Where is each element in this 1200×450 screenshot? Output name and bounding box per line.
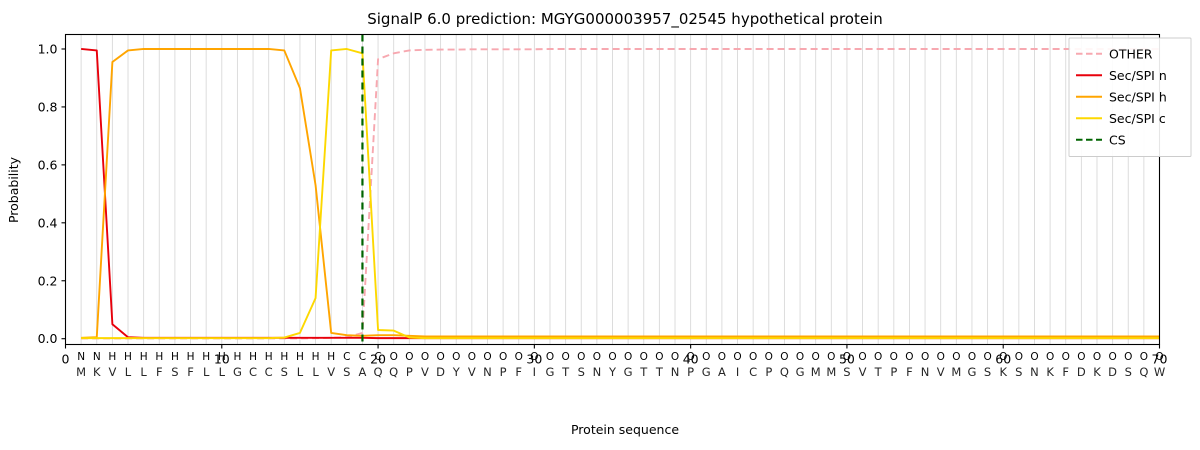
residue-state-marker: O <box>468 351 476 363</box>
residue-state-marker: H <box>327 351 335 363</box>
residue-state-marker: H <box>249 351 257 363</box>
residue-state-marker: H <box>233 351 241 363</box>
residue-state-marker: H <box>312 351 320 363</box>
residue-letter: V <box>327 365 335 379</box>
residue-state-marker: O <box>702 351 710 363</box>
residue-state-marker: O <box>780 351 788 363</box>
residue-letter: N <box>593 365 602 379</box>
residue-letter: G <box>702 365 711 379</box>
residue-state-marker: N <box>93 351 101 363</box>
residue-state-marker: O <box>624 351 632 363</box>
residue-letter: P <box>687 365 694 379</box>
residue-letter: Y <box>452 365 461 379</box>
residue-state-marker: H <box>108 351 116 363</box>
x-axis-label: Protein sequence <box>571 422 679 437</box>
residue-state-marker: O <box>390 351 398 363</box>
residue-letter: G <box>233 365 242 379</box>
residue-letter: P <box>765 365 772 379</box>
residue-state-marker: H <box>202 351 210 363</box>
residue-letter: N <box>483 365 492 379</box>
residue-state-marker: O <box>937 351 945 363</box>
residue-state-marker: H <box>280 351 288 363</box>
residue-letter: M <box>76 365 86 379</box>
residue-state-marker: O <box>921 351 929 363</box>
y-tick-label: 0.2 <box>38 273 58 288</box>
residue-state-marker: O <box>1046 351 1054 363</box>
legend-label-sec-spi-c[interactable]: Sec/SPI c <box>1109 111 1166 126</box>
residue-letter: G <box>796 365 805 379</box>
residue-state-marker: H <box>187 351 195 363</box>
residue-state-marker: O <box>546 351 554 363</box>
residue-letter: M <box>951 365 961 379</box>
residue-state-marker: O <box>593 351 601 363</box>
residue-state-marker: O <box>718 351 726 363</box>
residue-letter: V <box>421 365 429 379</box>
residue-state-marker: O <box>749 351 757 363</box>
residue-letter: K <box>999 365 1007 379</box>
residue-letter: I <box>533 365 536 379</box>
plot-background <box>0 0 1200 450</box>
residue-letter: L <box>125 365 132 379</box>
residue-letter: D <box>1108 365 1117 379</box>
residue-state-marker: O <box>1093 351 1101 363</box>
y-axis-label: Probability <box>6 156 21 223</box>
residue-state-marker: O <box>843 351 851 363</box>
residue-state-marker: O <box>421 351 429 363</box>
residue-letter: C <box>749 365 757 379</box>
residue-state-marker: O <box>561 351 569 363</box>
residue-letter: P <box>406 365 413 379</box>
legend-label-sec-spi-h[interactable]: Sec/SPI h <box>1109 89 1167 104</box>
residue-letter: T <box>655 365 664 379</box>
chart-legend[interactable]: OTHERSec/SPI nSec/SPI hSec/SPI cCS <box>1069 38 1191 157</box>
residue-letter: Q <box>1139 365 1148 379</box>
residue-letter: F <box>187 365 194 379</box>
chart-canvas: SignalP 6.0 prediction: MGYG000003957_02… <box>0 0 1200 450</box>
residue-letter: N <box>921 365 930 379</box>
residue-letter: M <box>826 365 836 379</box>
residue-letter: P <box>500 365 507 379</box>
residue-state-marker: O <box>858 351 866 363</box>
residue-state-marker: O <box>952 351 960 363</box>
residue-letter: S <box>984 365 991 379</box>
residue-letter: Y <box>608 365 617 379</box>
residue-state-marker: C <box>359 351 366 363</box>
residue-state-marker: O <box>733 351 741 363</box>
residue-letter: F <box>1062 365 1069 379</box>
residue-letter: Q <box>389 365 398 379</box>
residue-state-marker: O <box>405 351 413 363</box>
residue-letter: N <box>1030 365 1039 379</box>
residue-state-marker: O <box>890 351 898 363</box>
residue-letter: F <box>156 365 163 379</box>
residue-state-marker: C <box>343 351 350 363</box>
residue-letter: V <box>468 365 476 379</box>
residue-letter: C <box>249 365 257 379</box>
residue-state-marker: C <box>374 351 381 363</box>
residue-letter: T <box>874 365 883 379</box>
legend-label-other[interactable]: OTHER <box>1109 46 1153 61</box>
residue-letter: L <box>297 365 304 379</box>
residue-state-marker: O <box>436 351 444 363</box>
residue-state-marker: O <box>968 351 976 363</box>
residue-letter: Q <box>780 365 789 379</box>
residue-state-marker: O <box>765 351 773 363</box>
residue-state-marker: O <box>1062 351 1070 363</box>
residue-letter: G <box>546 365 555 379</box>
chart-title: SignalP 6.0 prediction: MGYG000003957_02… <box>367 10 883 29</box>
legend-label-sec-spi-n[interactable]: Sec/SPI n <box>1109 68 1167 83</box>
residue-letter: S <box>578 365 585 379</box>
residue-letter: N <box>671 365 680 379</box>
residue-letter: L <box>140 365 147 379</box>
residue-letter: G <box>624 365 633 379</box>
residue-letter: W <box>1154 365 1165 379</box>
residue-state-marker: O <box>874 351 882 363</box>
residue-letter: L <box>312 365 319 379</box>
residue-letter: I <box>736 365 739 379</box>
residue-state-marker: O <box>827 351 835 363</box>
residue-state-marker: H <box>171 351 179 363</box>
residue-letter: K <box>1046 365 1054 379</box>
residue-letter: S <box>171 365 178 379</box>
residue-state-marker: O <box>1155 351 1163 363</box>
residue-state-marker: O <box>1124 351 1132 363</box>
residue-state-marker: O <box>796 351 804 363</box>
residue-letter: L <box>219 365 226 379</box>
residue-state-marker: H <box>218 351 226 363</box>
residue-letter: S <box>281 365 288 379</box>
residue-letter: V <box>859 365 867 379</box>
residue-state-marker: O <box>1108 351 1116 363</box>
residue-state-marker: O <box>905 351 913 363</box>
residue-letter: F <box>906 365 913 379</box>
residue-state-marker: O <box>999 351 1007 363</box>
residue-state-marker: O <box>687 351 695 363</box>
residue-letter: S <box>1125 365 1132 379</box>
residue-letter: T <box>639 365 648 379</box>
residue-state-marker: O <box>671 351 679 363</box>
residue-state-marker: H <box>155 351 163 363</box>
residue-state-marker: O <box>1077 351 1085 363</box>
residue-letter: S <box>1015 365 1022 379</box>
residue-letter: F <box>515 365 522 379</box>
residue-letter: C <box>265 365 273 379</box>
residue-letter: M <box>811 365 821 379</box>
residue-state-marker: O <box>640 351 648 363</box>
residue-letter: S <box>843 365 850 379</box>
residue-state-marker: N <box>77 351 85 363</box>
y-tick-label: 0.8 <box>38 99 58 114</box>
residue-state-marker: O <box>452 351 460 363</box>
residue-letter: K <box>1093 365 1101 379</box>
residue-state-marker: O <box>812 351 820 363</box>
residue-state-marker: O <box>483 351 491 363</box>
residue-letter: V <box>108 365 116 379</box>
residue-state-marker: O <box>499 351 507 363</box>
residue-letter: A <box>359 365 367 379</box>
residue-letter: V <box>937 365 945 379</box>
residue-state-marker: H <box>140 351 148 363</box>
residue-state-marker: O <box>1030 351 1038 363</box>
residue-letter: P <box>890 365 897 379</box>
residue-state-marker: O <box>515 351 523 363</box>
x-tick-label: 0 <box>62 352 70 367</box>
y-tick-label: 1.0 <box>38 41 58 56</box>
residue-state-marker: O <box>983 351 991 363</box>
residue-letter: D <box>1077 365 1086 379</box>
residue-letter: G <box>967 365 976 379</box>
residue-state-marker: H <box>124 351 132 363</box>
residue-letter: Q <box>374 365 383 379</box>
residue-letter: D <box>436 365 445 379</box>
y-tick-label: 0.0 <box>38 331 58 346</box>
residue-letter: A <box>718 365 726 379</box>
residue-state-marker: H <box>265 351 273 363</box>
y-tick-label: 0.4 <box>38 215 58 230</box>
signalp-prediction-figure: SignalP 6.0 prediction: MGYG000003957_02… <box>0 0 1200 450</box>
residue-state-marker: O <box>577 351 585 363</box>
y-tick-label: 0.6 <box>38 157 58 172</box>
residue-letter: K <box>93 365 101 379</box>
residue-state-marker: H <box>296 351 304 363</box>
residue-letter: S <box>343 365 350 379</box>
residue-state-marker: O <box>530 351 538 363</box>
residue-state-marker: O <box>608 351 616 363</box>
residue-letter: L <box>203 365 210 379</box>
residue-state-marker: O <box>655 351 663 363</box>
residue-state-marker: O <box>1140 351 1148 363</box>
legend-label-cs[interactable]: CS <box>1109 132 1126 147</box>
residue-letter: T <box>561 365 570 379</box>
residue-state-marker: O <box>1015 351 1023 363</box>
